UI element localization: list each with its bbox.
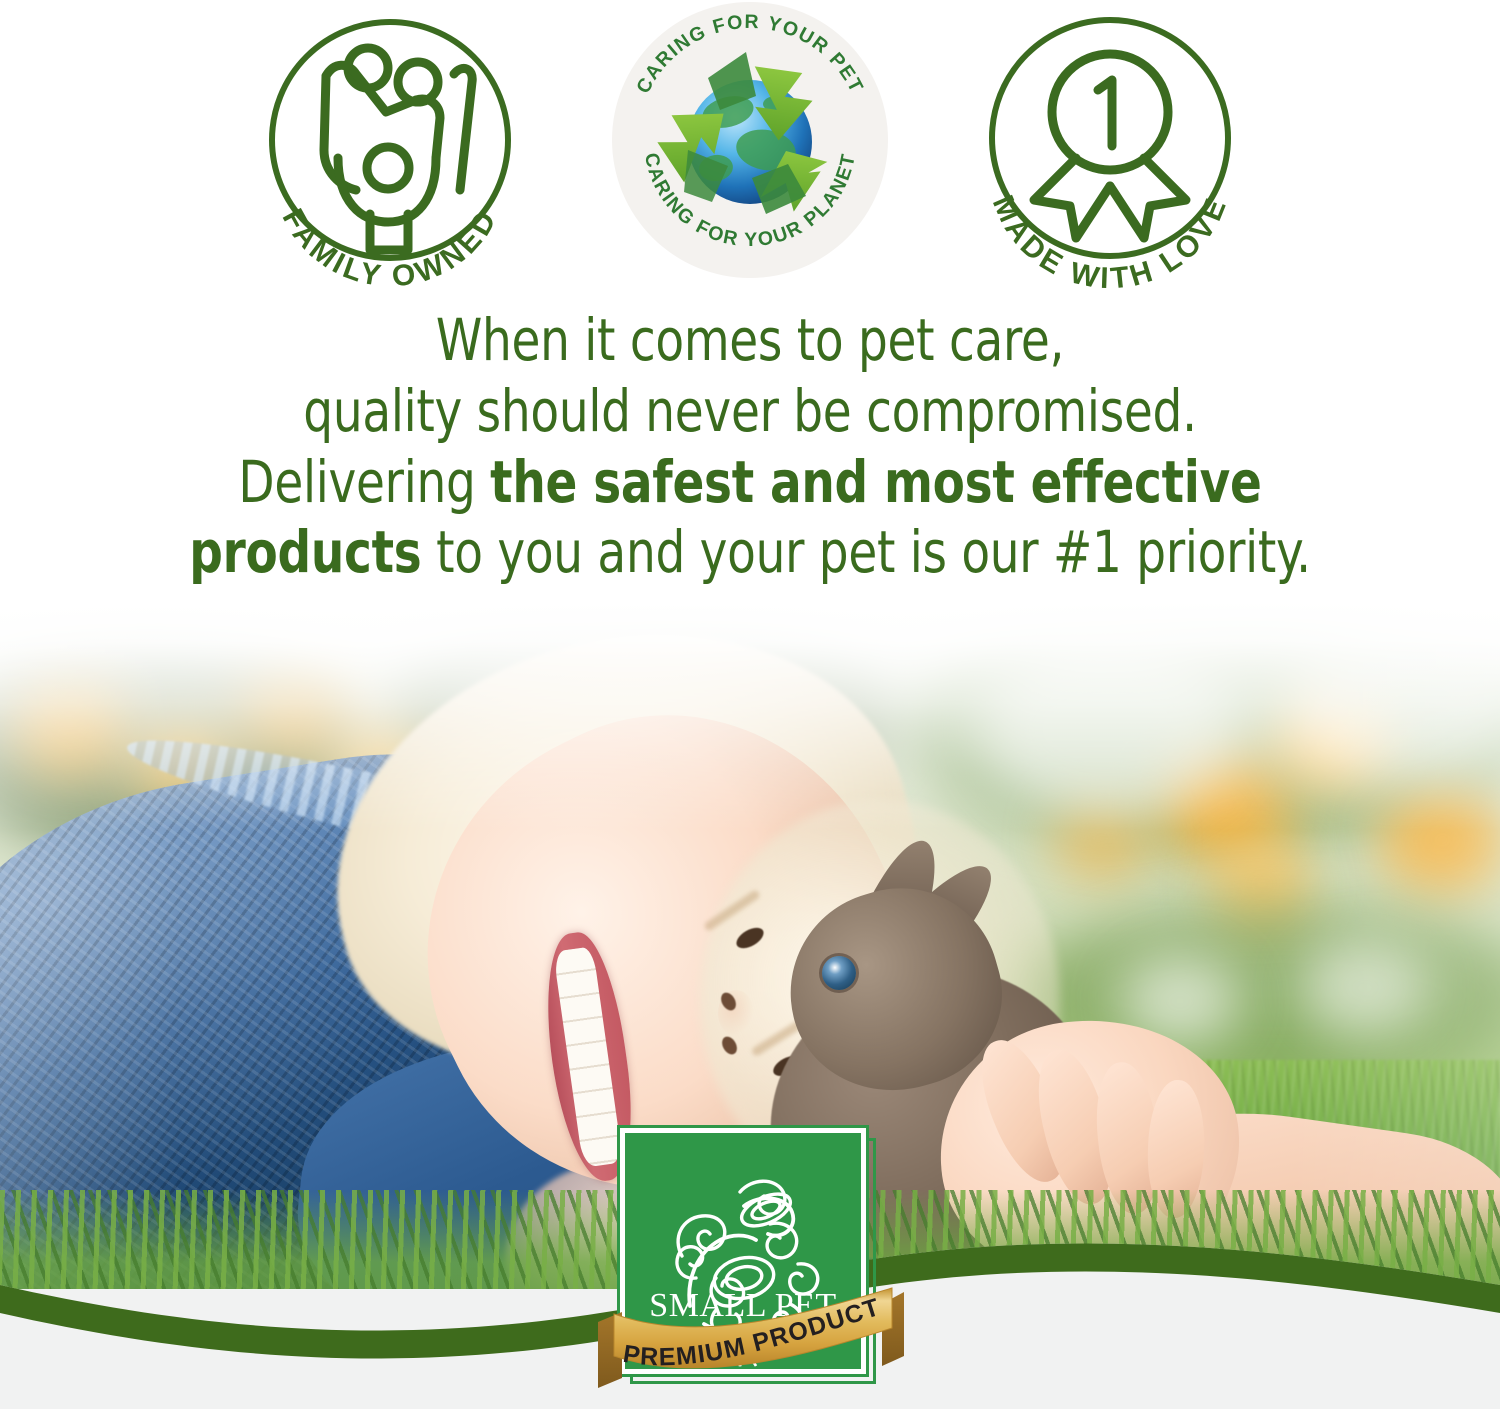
headline-line-2: quality should never be compromised. (129, 376, 1371, 447)
premium-product-ribbon: PREMIUM PRODUCT (592, 1286, 910, 1390)
badge-made-with-love: MADE WITH LOVE (930, 0, 1290, 290)
headline-line-3-emphasis: the safest and most effective (490, 448, 1261, 516)
headline-block: When it comes to pet care, quality shoul… (0, 305, 1500, 588)
promo-banner: FAMILY OWNED (0, 0, 1500, 1409)
headline-line-4-emphasis: products (189, 518, 421, 586)
award-ribbon-number-one-icon (1034, 54, 1186, 238)
badge-caring-planet: CARING FOR YOUR PET CARING FOR YOUR PLAN… (570, 0, 930, 290)
badge-family-owned: FAMILY OWNED (210, 0, 570, 290)
headline-line-3-plain: Delivering (238, 448, 490, 516)
headline-line-1: When it comes to pet care, (129, 305, 1371, 376)
family-figures-in-hand-icon (324, 48, 472, 250)
headline-line-3: Delivering the safest and most effective (129, 447, 1371, 518)
badge-made-with-love-label: MADE WITH LOVE (986, 191, 1234, 290)
headline-line-4: products to you and your pet is our #1 p… (129, 517, 1371, 588)
trust-badge-row: FAMILY OWNED (0, 0, 1500, 290)
brand-logo: SMALL PET SELECT (620, 1128, 882, 1390)
headline-line-4-plain: to you and your pet is our #1 priority. (421, 518, 1310, 586)
